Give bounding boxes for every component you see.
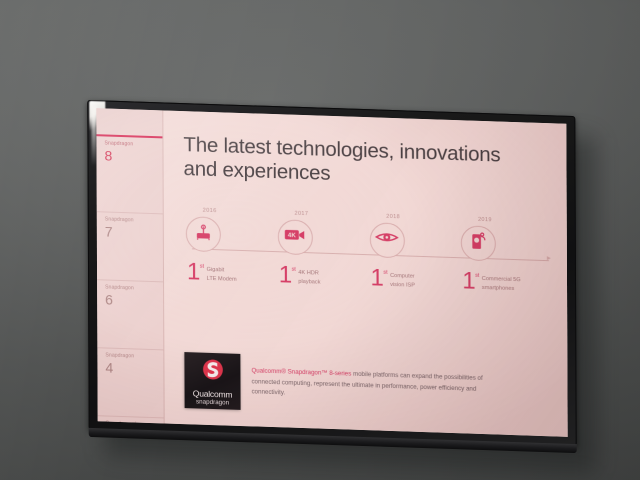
timeline-item[interactable]: 2019 bbox=[459, 216, 551, 327]
timeline-node[interactable]: 4K bbox=[278, 219, 313, 255]
timeline-year: 2018 bbox=[386, 214, 459, 222]
timeline-fact: 1 st Computer vision ISP bbox=[370, 268, 459, 291]
timeline-year: 2016 bbox=[203, 208, 276, 216]
timeline-label: Gigabit LTE Modem bbox=[207, 266, 237, 284]
timeline-node[interactable] bbox=[186, 216, 221, 252]
timeline-node[interactable] bbox=[369, 222, 404, 258]
sidebar-item-snapdragon-8[interactable]: Snapdragon 8 bbox=[96, 134, 162, 177]
svg-text:4K: 4K bbox=[288, 232, 296, 239]
sidebar-item-snapdragon-4[interactable]: Snapdragon 4 bbox=[97, 347, 163, 389]
timeline-year: 2019 bbox=[478, 217, 551, 225]
sidebar-item-snapdragon-7[interactable]: Snapdragon 7 bbox=[97, 211, 163, 253]
slide-footer: Qualcomm snapdragon Qualcomm® Snapdragon… bbox=[184, 352, 551, 420]
timeline-ordinal: 1 bbox=[279, 265, 291, 286]
slide-sidebar-nav: Snapdragon 8 Snapdragon 7 Snapdragon 6 bbox=[96, 108, 164, 423]
slide-title: The latest technologies, innovations and… bbox=[183, 133, 513, 192]
snapdragon-s-logo-icon bbox=[201, 357, 224, 386]
timeline-node[interactable] bbox=[461, 225, 496, 261]
timeline-item[interactable]: 2018 bbox=[367, 213, 459, 324]
slide-main-content: The latest technologies, innovations and… bbox=[163, 110, 567, 436]
sidebar-item-snapdragon-6[interactable]: Snapdragon 6 bbox=[97, 279, 163, 321]
video-camera-4k-icon: 4K bbox=[284, 227, 306, 247]
timeline-ordinal-suffix: st bbox=[475, 273, 479, 279]
room-scene: Snapdragon 8 Snapdragon 7 Snapdragon 6 bbox=[0, 0, 640, 480]
footer-description: Qualcomm® Snapdragon™ 8-series mobile pl… bbox=[251, 354, 483, 406]
timeline-ordinal-suffix: st bbox=[292, 267, 296, 273]
qualcomm-snapdragon-logo-badge: Qualcomm snapdragon bbox=[184, 352, 240, 410]
timeline-fact: 1 st Commercial 5G smartphones bbox=[462, 271, 551, 294]
timeline-label: Computer vision ISP bbox=[390, 272, 415, 290]
sidebar-item-number: 8 bbox=[104, 149, 155, 165]
snapdragon-wordmark: snapdragon bbox=[196, 400, 229, 407]
timeline-ordinal: 1 bbox=[370, 268, 382, 289]
timeline-year: 2017 bbox=[294, 211, 367, 219]
sidebar-item-number: 7 bbox=[105, 225, 156, 241]
presentation-slide: Snapdragon 8 Snapdragon 7 Snapdragon 6 bbox=[96, 108, 567, 437]
timeline-ordinal-suffix: st bbox=[383, 270, 387, 276]
timeline-ordinal-suffix: st bbox=[200, 264, 204, 270]
display-screen: Snapdragon 8 Snapdragon 7 Snapdragon 6 bbox=[96, 108, 567, 437]
modem-icon bbox=[194, 222, 213, 246]
timeline-item[interactable]: 2017 4K bbox=[275, 210, 367, 321]
timeline-item[interactable]: 2016 bbox=[184, 207, 276, 318]
smartphone-5g-icon bbox=[470, 231, 488, 257]
timeline-ordinal: 1 bbox=[462, 271, 474, 292]
eye-icon bbox=[375, 231, 399, 250]
timeline-label: Commercial 5G smartphones bbox=[482, 275, 521, 294]
sidebar-item-number: 4 bbox=[105, 361, 156, 377]
timeline-ordinal: 1 bbox=[187, 262, 199, 283]
milestone-timeline: 2016 bbox=[184, 207, 551, 327]
footer-description-highlight: Qualcomm® Snapdragon™ 8-series bbox=[251, 367, 351, 377]
timeline-label: 4K HDR playback bbox=[298, 269, 320, 287]
timeline-fact: 1 st Gigabit LTE Modem bbox=[187, 262, 276, 285]
timeline-fact: 1 st 4K HDR playback bbox=[279, 265, 368, 288]
sidebar-item-number: 6 bbox=[105, 293, 156, 309]
qualcomm-wordmark: Qualcomm bbox=[193, 389, 233, 399]
wall-mounted-display: Snapdragon 8 Snapdragon 7 Snapdragon 6 bbox=[87, 100, 576, 446]
